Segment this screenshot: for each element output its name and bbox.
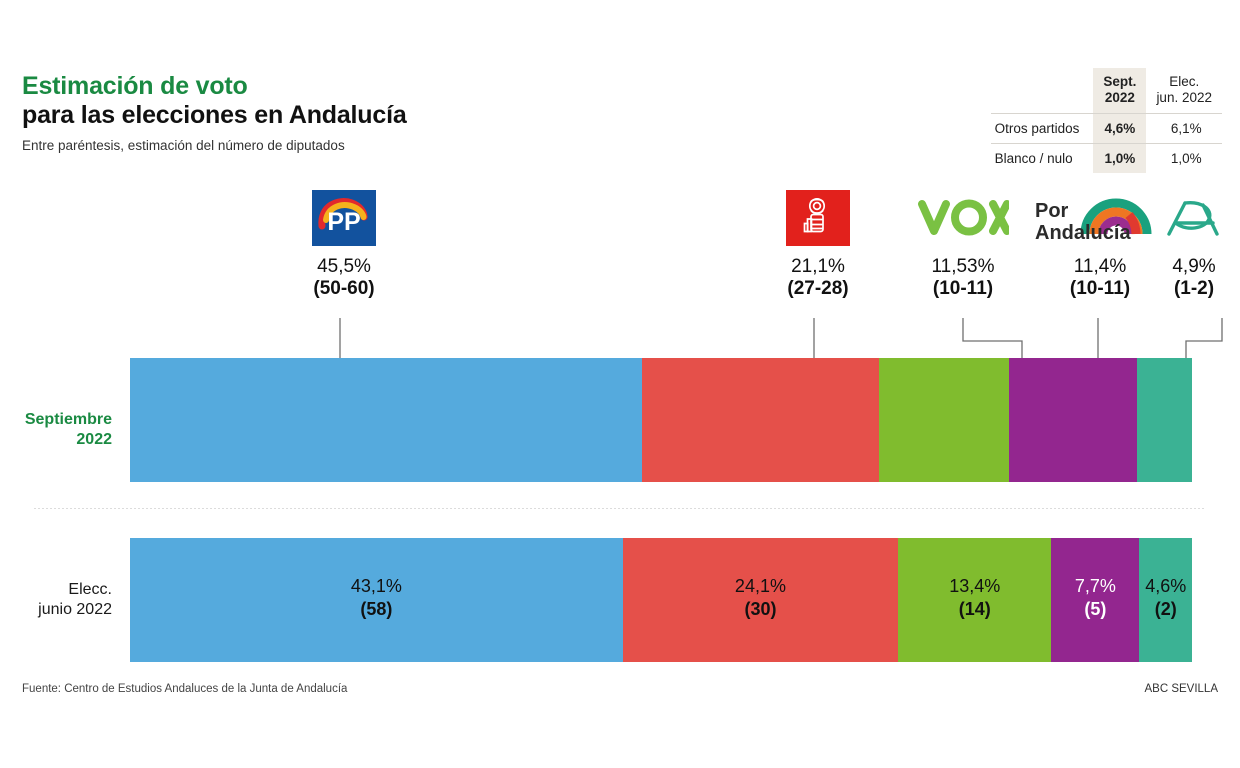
table-corner-empty: [991, 68, 1094, 114]
row-label-septiembre-2022: Septiembre 2022: [0, 410, 112, 449]
svg-text:PP: PP: [327, 208, 360, 236]
table-row-sept: 1,0%: [1093, 144, 1146, 174]
bar-segment-seats: (30): [735, 598, 786, 621]
bar-segment-adelante: [1137, 358, 1192, 482]
table-row-elec: 6,1%: [1146, 114, 1222, 144]
table-row-label: Otros partidos: [991, 114, 1094, 144]
bar-segment-vox: [879, 358, 1009, 482]
table-col-elec-line2: jun. 2022: [1156, 90, 1212, 106]
table-row: Otros partidos 4,6% 6,1%: [991, 114, 1222, 144]
bar-segment-adelante: 4,6% (2): [1139, 538, 1192, 662]
adelante-andalucia-logo: [1163, 197, 1225, 239]
svg-text:Por: Por: [1035, 200, 1069, 222]
vox-logo-wrap: [900, 190, 1026, 246]
row-label-line1: Septiembre: [0, 410, 112, 430]
bar-segment-seats: (2): [1145, 598, 1186, 621]
party-pct: 45,5%: [278, 256, 410, 278]
bar-segment-por-andalucia: 7,7% (5): [1051, 538, 1139, 662]
party-seats: (50-60): [278, 278, 410, 300]
table-row-elec: 1,0%: [1146, 144, 1222, 174]
adelante-andalucia-logo-wrap: [1148, 190, 1240, 246]
party-pct: 4,9%: [1148, 256, 1240, 278]
bar-segment-pp: 43,1% (58): [130, 538, 623, 662]
bar-segment-pct: 24,1%: [735, 575, 786, 598]
stacked-bar-elecciones-junio-2022: 43,1% (58) 24,1% (30) 13,4% (14) 7,7% (5…: [130, 538, 1192, 662]
bar-segment-pct: 4,6%: [1145, 575, 1186, 598]
table-col-sept: Sept. 2022: [1093, 68, 1146, 114]
others-table: Sept. 2022 Elec. jun. 2022 Otros partido…: [991, 68, 1222, 173]
party-head-psoe: 21,1% (27-28): [752, 190, 884, 301]
psoe-logo: [786, 190, 850, 246]
title-line-1: Estimación de voto: [22, 72, 407, 101]
party-head-vox: 11,53% (10-11): [900, 190, 1026, 301]
party-pct: 21,1%: [752, 256, 884, 278]
table-col-elec: Elec. jun. 2022: [1146, 68, 1222, 114]
row-divider: [34, 508, 1206, 509]
row-label-line2: junio 2022: [0, 600, 112, 620]
psoe-logo-wrap: [752, 190, 884, 246]
row-label-elecciones-junio-2022: Elecc. junio 2022: [0, 580, 112, 619]
svg-text:Andalucía: Andalucía: [1035, 222, 1131, 244]
leader-lines: [0, 310, 1240, 365]
vox-logo: [917, 198, 1009, 238]
table-row-label: Blanco / nulo: [991, 144, 1094, 174]
page-title: Estimación de voto para las elecciones e…: [22, 72, 407, 153]
table-header-row: Sept. 2022 Elec. jun. 2022: [991, 68, 1222, 114]
bar-segment-vox: 13,4% (14): [898, 538, 1051, 662]
bar-segment-pct: 43,1%: [351, 575, 402, 598]
table-col-sept-line2: 2022: [1103, 90, 1136, 106]
pp-logo: PP: [312, 190, 376, 246]
bar-segment-pp: [130, 358, 642, 482]
table-row: Blanco / nulo 1,0% 1,0%: [991, 144, 1222, 174]
bar-segment-label: 24,1% (30): [735, 575, 786, 620]
por-andalucia-logo: Por Andalucía: [1033, 192, 1167, 244]
credit-note: ABC SEVILLA: [1144, 683, 1218, 695]
party-seats: (10-11): [900, 278, 1026, 300]
bar-segment-pct: 13,4%: [949, 575, 1000, 598]
party-seats: (27-28): [752, 278, 884, 300]
table-col-elec-line1: Elec.: [1156, 74, 1212, 90]
bar-segment-psoe: 24,1% (30): [623, 538, 899, 662]
bar-segment-seats: (58): [351, 598, 402, 621]
bar-segment-seats: (14): [949, 598, 1000, 621]
party-pct: 11,53%: [900, 256, 1026, 278]
row-label-line2: 2022: [0, 430, 112, 450]
title-line-2: para las elecciones en Andalucía: [22, 101, 407, 130]
bar-segment-pct: 7,7%: [1075, 575, 1116, 598]
infographic-root: Estimación de voto para las elecciones e…: [0, 0, 1240, 768]
stacked-bar-septiembre-2022: [130, 358, 1192, 482]
party-seats: (1-2): [1148, 278, 1240, 300]
source-note: Fuente: Centro de Estudios Andaluces de …: [22, 683, 347, 695]
bar-segment-seats: (5): [1075, 598, 1116, 621]
subtitle: Entre paréntesis, estimación del número …: [22, 138, 407, 153]
bar-segment-label: 7,7% (5): [1075, 575, 1116, 620]
bar-segment-label: 4,6% (2): [1145, 575, 1186, 620]
party-head-pp: PP 45,5% (50-60): [278, 190, 410, 301]
leader-line-adelante: [1186, 318, 1222, 361]
bar-segment-label: 43,1% (58): [351, 575, 402, 620]
bar-segment-por-andalucia: [1009, 358, 1137, 482]
leader-line-vox: [963, 318, 1022, 361]
pp-logo-wrap: PP: [278, 190, 410, 246]
party-head-adelante-andalucia: 4,9% (1-2): [1148, 190, 1240, 301]
bar-segment-psoe: [642, 358, 879, 482]
bar-segment-label: 13,4% (14): [949, 575, 1000, 620]
table-col-sept-line1: Sept.: [1103, 74, 1136, 90]
row-label-line1: Elecc.: [0, 580, 112, 600]
table-row-sept: 4,6%: [1093, 114, 1146, 144]
